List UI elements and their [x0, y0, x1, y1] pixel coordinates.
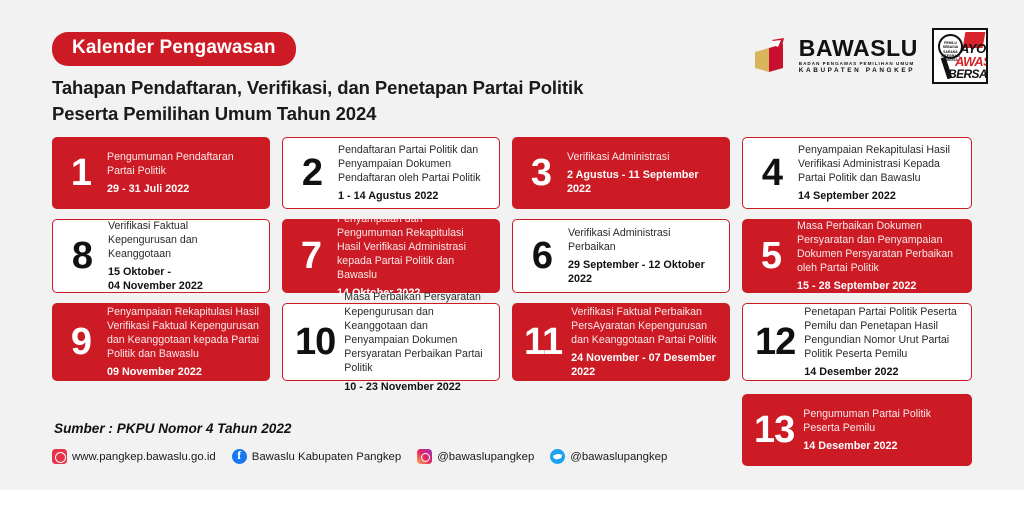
card-number: 1	[64, 156, 98, 191]
ballot-box-icon	[751, 36, 791, 76]
card-description: Verifikasi Faktual Perbaikan PersAyarata…	[571, 305, 720, 348]
card-description: Penyampaian dan Pengumuman Rekapitulasi …	[337, 212, 490, 283]
timeline-card: 3 Verifikasi Administrasi 2 Agustus - 11…	[512, 137, 730, 209]
card-date: 09 November 2022	[107, 365, 260, 379]
card-date: 29 September - 12 Oktober 2022	[568, 258, 719, 286]
ayo-awasi-bersama-logo: PEMILU SEBAGAI SARANA INTEGRASI BANGSA A…	[932, 28, 988, 84]
timeline-card: 11 Verifikasi Faktual Perbaikan PersAyar…	[512, 303, 730, 381]
timeline-card: 4 Penyampaian Rekapitulasi Hasil Verifik…	[742, 137, 972, 209]
social-label: @bawaslupangkep	[570, 451, 667, 463]
card-date: 15 Oktober - 04 November 2022	[108, 265, 259, 293]
card-body: Penyampaian Rekapitulasi Hasil Verifikas…	[107, 305, 260, 380]
card-date: 14 Desember 2022	[803, 439, 962, 453]
card-body: Verifikasi Administrasi Perbaikan 29 Sep…	[568, 226, 719, 286]
card-number: 3	[524, 156, 558, 191]
card-body: Penetapan Partai Politik Peserta Pemilu …	[804, 305, 961, 380]
card-description: Penyampaian Rekapitulasi Hasil Verifikas…	[107, 305, 260, 362]
timeline-card: 8 Verifikasi Faktual Kepengurusan dan Ke…	[52, 219, 270, 293]
timeline-card: 2 Pendaftaran Partai Politik dan Penyamp…	[282, 137, 500, 209]
card-date: 15 - 28 September 2022	[797, 279, 962, 293]
timeline-card: 7 Penyampaian dan Pengumuman Rekapitulas…	[282, 219, 500, 293]
timeline-card: 1 Pengumuman Pendaftaran Partai Politik …	[52, 137, 270, 209]
timeline-card: 13 Pengumuman Partai Politik Peserta Pem…	[742, 394, 972, 466]
social-link-instagram[interactable]: @bawaslupangkep	[417, 449, 534, 464]
ayo-word-3: BERSAMA	[948, 67, 988, 81]
card-date: 29 - 31 Juli 2022	[107, 182, 260, 196]
timeline-card: 10 Masa Perbaikan Persyaratan Kepengurus…	[282, 303, 500, 381]
card-description: Verifikasi Faktual Kepengurusan dan Kean…	[108, 219, 259, 262]
card-number: 12	[755, 325, 795, 360]
card-date: 14 Desember 2022	[804, 365, 961, 379]
page-title-line1: Tahapan Pendaftaran, Verifikasi, dan Pen…	[52, 75, 692, 101]
bawaslu-logo: BAWASLU BADAN PENGAWAS PEMILIHAN UMUM KA…	[751, 36, 918, 76]
facebook-icon	[232, 449, 247, 464]
card-body: Masa Perbaikan Persyaratan Kepengurusan …	[344, 290, 489, 393]
card-description: Pengumuman Partai Politik Peserta Pemilu	[803, 407, 962, 435]
card-description: Pengumuman Pendaftaran Partai Politik	[107, 150, 260, 178]
card-body: Pendaftaran Partai Politik dan Penyampai…	[338, 143, 489, 204]
social-link-facebook[interactable]: Bawaslu Kabupaten Pangkep	[232, 449, 401, 464]
card-body: Verifikasi Faktual Kepengurusan dan Kean…	[108, 219, 259, 294]
card-date: 14 September 2022	[798, 189, 961, 203]
card-body: Verifikasi Faktual Perbaikan PersAyarata…	[571, 305, 720, 380]
card-body: Masa Perbaikan Dokumen Persyaratan dan P…	[797, 219, 962, 294]
card-description: Penetapan Partai Politik Peserta Pemilu …	[804, 305, 961, 362]
website-icon	[52, 449, 67, 464]
bawaslu-subtitle-2: KABUPATEN PANGKEP	[799, 68, 918, 74]
bawaslu-subtitle-1: BADAN PENGAWAS PEMILIHAN UMUM	[799, 62, 918, 67]
card-body: Pengumuman Pendaftaran Partai Politik 29…	[107, 150, 260, 196]
card-description: Verifikasi Administrasi Perbaikan	[568, 226, 719, 254]
timeline-card: 6 Verifikasi Administrasi Perbaikan 29 S…	[512, 219, 730, 293]
card-number: 11	[524, 325, 562, 360]
twitter-icon	[550, 449, 565, 464]
social-links: www.pangkep.bawaslu.go.id Bawaslu Kabupa…	[52, 449, 676, 464]
card-date: 1 - 14 Agustus 2022	[338, 189, 489, 203]
timeline-card: 9 Penyampaian Rekapitulasi Hasil Verifik…	[52, 303, 270, 381]
bawaslu-word: BAWASLU	[799, 37, 918, 60]
logo-group: BAWASLU BADAN PENGAWAS PEMILIHAN UMUM KA…	[751, 28, 988, 84]
social-label: Bawaslu Kabupaten Pangkep	[252, 451, 401, 463]
card-description: Masa Perbaikan Persyaratan Kepengurusan …	[344, 290, 489, 375]
social-link-twitter[interactable]: @bawaslupangkep	[550, 449, 667, 464]
background-bottom-strip	[0, 490, 1024, 511]
social-label: @bawaslupangkep	[437, 451, 534, 463]
card-date: 24 November - 07 Desember 2022	[571, 351, 720, 379]
card-number: 13	[754, 413, 794, 448]
card-description: Masa Perbaikan Dokumen Persyaratan dan P…	[797, 219, 962, 276]
card-body: Pengumuman Partai Politik Peserta Pemilu…	[803, 407, 962, 453]
card-description: Verifikasi Administrasi	[567, 150, 720, 164]
timeline-card: 5 Masa Perbaikan Dokumen Persyaratan dan…	[742, 219, 972, 293]
card-description: Pendaftaran Partai Politik dan Penyampai…	[338, 143, 489, 186]
card-body: Verifikasi Administrasi 2 Agustus - 11 S…	[567, 150, 720, 196]
infographic-canvas: Kalender Pengawasan Tahapan Pendaftaran,…	[0, 0, 1024, 511]
card-number: 5	[754, 239, 788, 274]
card-number: 6	[525, 239, 559, 274]
bawaslu-wordmark: BAWASLU BADAN PENGAWAS PEMILIHAN UMUM KA…	[799, 37, 918, 75]
card-number: 7	[294, 239, 328, 274]
page-title: Tahapan Pendaftaran, Verifikasi, dan Pen…	[52, 75, 692, 128]
timeline-card: 12 Penetapan Partai Politik Peserta Pemi…	[742, 303, 972, 381]
card-body: Penyampaian dan Pengumuman Rekapitulasi …	[337, 212, 490, 301]
page-title-line2: Peserta Pemilihan Umum Tahun 2024	[52, 101, 692, 127]
card-number: 2	[295, 156, 329, 191]
social-link-website[interactable]: www.pangkep.bawaslu.go.id	[52, 449, 216, 464]
card-number: 9	[64, 325, 98, 360]
header: Kalender Pengawasan Tahapan Pendaftaran,…	[52, 32, 692, 127]
card-number: 4	[755, 156, 789, 191]
header-badge: Kalender Pengawasan	[52, 32, 296, 66]
card-date: 10 - 23 November 2022	[344, 380, 489, 394]
social-label: www.pangkep.bawaslu.go.id	[72, 451, 216, 463]
instagram-icon	[417, 449, 432, 464]
card-body: Penyampaian Rekapitulasi Hasil Verifikas…	[798, 143, 961, 204]
card-number: 10	[295, 325, 335, 360]
card-number: 8	[65, 239, 99, 274]
source-note: Sumber : PKPU Nomor 4 Tahun 2022	[54, 421, 291, 436]
card-date: 2 Agustus - 11 September 2022	[567, 168, 720, 196]
card-description: Penyampaian Rekapitulasi Hasil Verifikas…	[798, 143, 961, 186]
